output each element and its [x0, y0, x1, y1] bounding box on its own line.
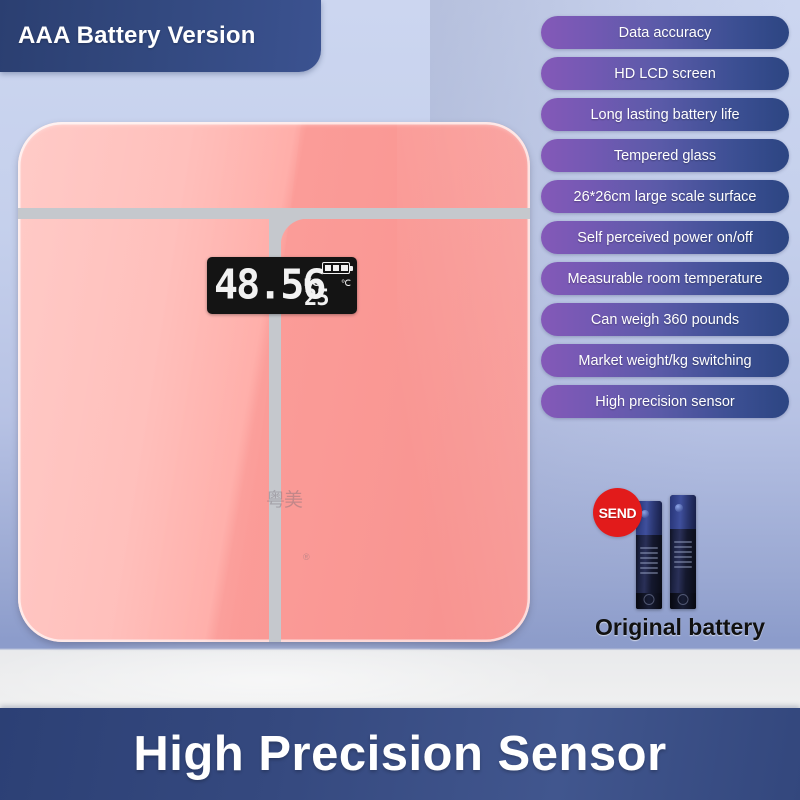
feature-pill[interactable]: Can weigh 360 pounds: [541, 303, 789, 336]
lcd-temperature-value: 25: [304, 287, 329, 311]
glass-reflection-secondary: [397, 122, 530, 642]
feature-pill-label: 26*26cm large scale surface: [574, 189, 757, 205]
top-banner-label: AAA Battery Version: [0, 22, 256, 50]
lcd-temperature-unit: ℃: [341, 278, 351, 289]
feature-pill[interactable]: Market weight/kg switching: [541, 344, 789, 377]
feature-pill-label: High precision sensor: [595, 394, 734, 410]
divider-fillet-right: [281, 219, 307, 245]
feature-pill-label: Market weight/kg switching: [578, 353, 751, 369]
battery-negative-terminal: [644, 594, 655, 605]
registered-trademark-icon: ®: [303, 552, 310, 562]
battery-logo-dot: [675, 504, 683, 512]
bottom-banner: High Precision Sensor: [0, 708, 800, 800]
feature-pill-label: Tempered glass: [614, 148, 716, 164]
glass-reflection: [18, 122, 305, 642]
battery-logo-dot: [641, 510, 649, 518]
brand-logo: 粤美: [261, 490, 307, 556]
feature-pill[interactable]: Data accuracy: [541, 16, 789, 49]
scale-glass-platform: 48.56 KG ℃ 25 粤美 ®: [18, 122, 530, 642]
feature-pill-list: Data accuracy HD LCD screen Long lasting…: [541, 16, 789, 418]
included-battery-module: SEND Original battery: [570, 478, 790, 643]
feature-pill[interactable]: Self perceived power on/off: [541, 221, 789, 254]
feature-pill[interactable]: High precision sensor: [541, 385, 789, 418]
feature-pill[interactable]: HD LCD screen: [541, 57, 789, 90]
feature-pill-label: HD LCD screen: [614, 66, 716, 82]
feature-pill-label: Data accuracy: [619, 25, 712, 41]
feature-pill-label: Long lasting battery life: [590, 107, 739, 123]
bottom-banner-label: High Precision Sensor: [133, 726, 666, 782]
send-badge-label: SEND: [599, 505, 637, 521]
feature-pill-label: Measurable room temperature: [567, 271, 762, 287]
feature-pill-label: Can weigh 360 pounds: [591, 312, 739, 328]
battery-caption: Original battery: [570, 614, 790, 641]
feature-pill[interactable]: Tempered glass: [541, 139, 789, 172]
battery-negative-terminal: [678, 594, 689, 605]
lcd-display: 48.56 KG ℃ 25: [207, 257, 357, 314]
feature-pill[interactable]: 26*26cm large scale surface: [541, 180, 789, 213]
battery-label-text: [640, 547, 658, 574]
feature-pill[interactable]: Measurable room temperature: [541, 262, 789, 295]
feature-pill[interactable]: Long lasting battery life: [541, 98, 789, 131]
top-banner: AAA Battery Version: [0, 0, 321, 72]
battery-full-icon: [322, 262, 350, 274]
battery-base: [636, 593, 662, 609]
battery-label-text: [674, 541, 692, 568]
battery-top-wrap: [670, 495, 696, 529]
bathroom-scale: 48.56 KG ℃ 25 粤美 ®: [18, 122, 530, 642]
aaa-battery-icon: [670, 495, 696, 609]
product-image: AAA Battery Version 48.56 KG ℃ 25: [0, 0, 800, 800]
battery-base: [670, 593, 696, 609]
send-badge: SEND: [593, 488, 642, 537]
feature-pill-label: Self perceived power on/off: [577, 230, 752, 246]
lcd-indicator-group: KG ℃ 25: [304, 260, 352, 312]
